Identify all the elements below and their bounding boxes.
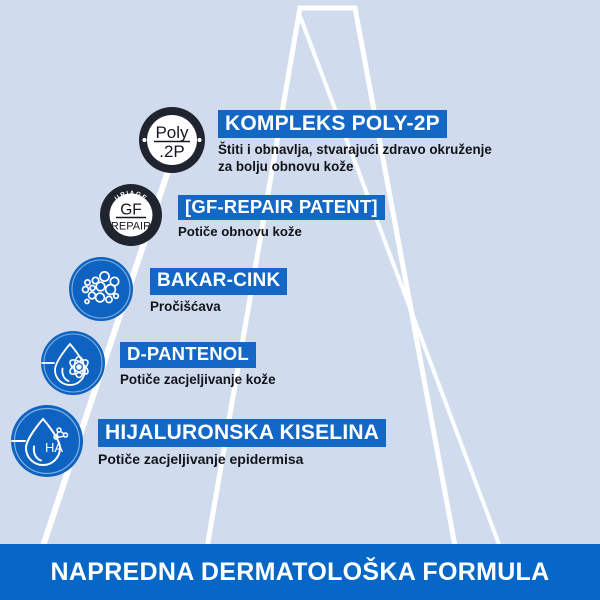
feature-text-copper-zinc: BAKAR-CINK Pročišćava (150, 268, 287, 315)
feature-text-poly2p: KOMPLEKS POLY-2P Štiti i obnavlja, stvar… (218, 110, 492, 175)
feature-text-panthenol: D-PANTENOL Potiče zacjeljivanje kože (120, 342, 276, 388)
poly-2p-bottom-text: .2P (159, 142, 185, 161)
feature-row-gf-repair: URIAGE BREVET · PATENT GF REPAIR [GF-REP… (98, 182, 385, 253)
infographic-canvas: Poly .2P KOMPLEKS POLY-2P Štiti i obnavl… (0, 0, 600, 600)
feature-row-copper-zinc: BAKAR-CINK Pročišćava (68, 256, 287, 327)
feature-title-hyaluronic-acid: HIJALURONSKA KISELINA (98, 419, 386, 447)
feature-description-panthenol: Potiče zacjeljivanje kože (120, 372, 276, 388)
feature-description-gf-repair: Potiče obnovu kože (178, 224, 385, 240)
molecule-bubbles-icon (68, 256, 134, 327)
feature-title-poly2p: KOMPLEKS POLY-2P (218, 110, 447, 138)
bottom-banner: NAPREDNA DERMATOLOŠKA FORMULA (0, 544, 600, 600)
feature-description-poly2p: Štiti i obnavlja, stvarajući zdravo okru… (218, 142, 492, 175)
droplet-ha-icon: HA (10, 404, 84, 483)
gf-repair-badge-icon: URIAGE BREVET · PATENT GF REPAIR (98, 182, 164, 253)
feature-row-hyaluronic-acid: HA HIJALURONSKA KISELINA Potiče zacjelji… (10, 404, 386, 483)
feature-text-hyaluronic-acid: HIJALURONSKA KISELINA Potiče zacjeljivan… (98, 419, 386, 468)
feature-row-poly2p: Poly .2P KOMPLEKS POLY-2P Štiti i obnavl… (136, 104, 492, 181)
feature-description-copper-zinc: Pročišćava (150, 299, 287, 315)
ha-label-text: HA (45, 440, 63, 455)
feature-title-copper-zinc: BAKAR-CINK (150, 268, 287, 294)
feature-title-gf-repair: [GF-REPAIR PATENT] (178, 195, 385, 221)
droplet-atom-icon (40, 330, 106, 401)
feature-text-gf-repair: [GF-REPAIR PATENT] Potiče obnovu kože (178, 195, 385, 241)
gf-repair-bottom-text: REPAIR (111, 221, 151, 233)
feature-row-panthenol: D-PANTENOL Potiče zacjeljivanje kože (40, 330, 276, 401)
poly-2p-badge-icon: Poly .2P (136, 104, 208, 181)
poly-2p-top-text: Poly (155, 123, 189, 142)
feature-title-panthenol: D-PANTENOL (120, 342, 256, 368)
bottom-banner-text: NAPREDNA DERMATOLOŠKA FORMULA (51, 558, 550, 587)
gf-repair-top-text: GF (120, 202, 142, 219)
feature-description-hyaluronic-acid: Potiče zacjeljivanje epidermisa (98, 451, 386, 468)
